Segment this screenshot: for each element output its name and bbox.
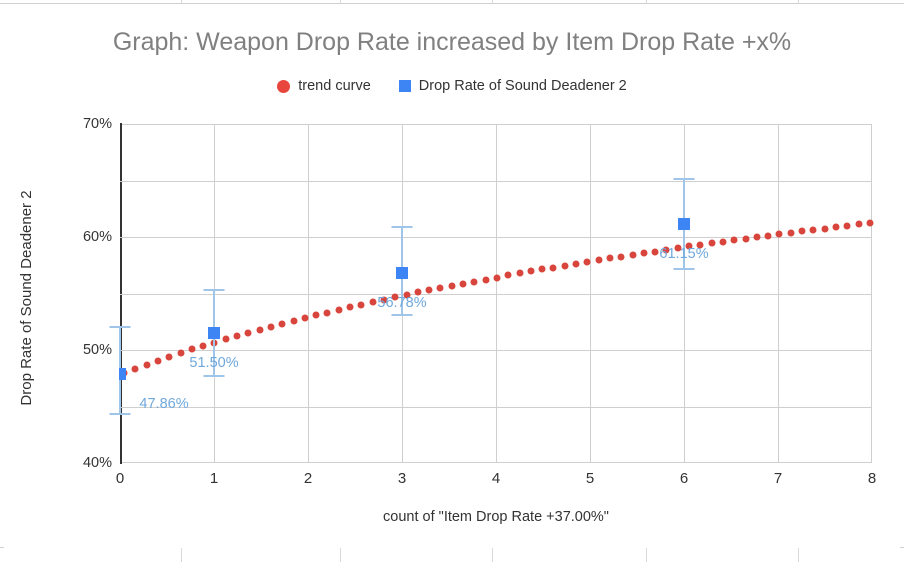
trend-curve-dot <box>844 222 851 229</box>
trend-curve-dot <box>821 225 828 232</box>
trend-curve-dot <box>516 270 523 277</box>
trend-curve-dot <box>448 282 455 289</box>
trend-curve-dot <box>143 361 150 368</box>
plot-area: 40%50%60%70% 012345678 47.86%51.50%56.78… <box>120 124 872 463</box>
x-tick-label: 5 <box>586 470 594 487</box>
error-bar-cap-lower <box>674 268 695 270</box>
trend-curve-dot <box>256 326 263 333</box>
chart-legend: trend curve Drop Rate of Sound Deadener … <box>4 78 900 94</box>
data-point-marker[interactable] <box>678 218 690 230</box>
trend-curve-dot <box>493 274 500 281</box>
trend-curve-dot <box>245 329 252 336</box>
legend-item-trend-curve[interactable]: trend curve <box>277 78 371 94</box>
x-tick-label: 8 <box>868 470 876 487</box>
trend-curve-dot <box>708 240 715 247</box>
trend-curve-dot <box>132 365 139 372</box>
x-axis-title: count of "Item Drop Rate +37.00%" <box>120 509 872 525</box>
trend-curve-dot <box>595 257 602 264</box>
trend-curve-dot <box>527 268 534 275</box>
trend-curve-dot <box>606 255 613 262</box>
error-bar-cap-lower <box>204 375 225 377</box>
error-bar-cap-lower <box>110 413 131 415</box>
trend-curve-dot <box>200 342 207 349</box>
y-axis-title-text: Drop Rate of Sound Deadener 2 <box>18 148 35 448</box>
trend-curve-dot <box>324 309 331 316</box>
square-marker-icon <box>399 80 411 92</box>
spreadsheet-chart-screenshot: Graph: Weapon Drop Rate increased by Ite… <box>0 0 904 562</box>
trend-curve-dot <box>234 332 241 339</box>
x-tick-label: 6 <box>680 470 688 487</box>
sheet-col-line <box>181 548 182 562</box>
data-point-marker[interactable] <box>208 327 220 339</box>
gridline-vertical <box>308 124 309 463</box>
data-point-label: 47.86% <box>139 396 188 412</box>
x-tick-label: 4 <box>492 470 500 487</box>
trend-curve-dot <box>866 220 873 227</box>
x-tick-label: 2 <box>304 470 312 487</box>
trend-curve-dot <box>301 315 308 322</box>
trend-curve-dot <box>561 262 568 269</box>
trend-curve-dot <box>177 350 184 357</box>
trend-curve-dot <box>753 234 760 241</box>
trend-curve-dot <box>765 232 772 239</box>
sheet-col-line <box>340 548 341 562</box>
x-tick-label: 3 <box>398 470 406 487</box>
trend-curve-dot <box>154 357 161 364</box>
trend-curve-dot <box>426 287 433 294</box>
error-bar-cap-upper <box>110 326 131 328</box>
sheet-col-line <box>646 548 647 562</box>
trend-curve-dot <box>482 276 489 283</box>
sheet-col-line <box>492 548 493 562</box>
data-point-label: 51.50% <box>189 355 238 371</box>
error-bar-cap-upper <box>674 178 695 180</box>
trend-curve-dot <box>787 229 794 236</box>
trend-curve-dot <box>539 266 546 273</box>
trend-curve-dot <box>629 251 636 258</box>
data-point-label: 61.15% <box>659 246 708 262</box>
x-tick-label: 1 <box>210 470 218 487</box>
trend-curve-dot <box>279 320 286 327</box>
y-tick-label: 40% <box>83 455 112 471</box>
chart-title: Graph: Weapon Drop Rate increased by Ite… <box>4 28 900 57</box>
trend-curve-dot <box>799 228 806 235</box>
trend-curve-dot <box>335 306 342 313</box>
trend-curve-dot <box>437 284 444 291</box>
trend-curve-dot <box>222 336 229 343</box>
trend-curve-dot <box>810 226 817 233</box>
trend-curve-dot <box>573 260 580 267</box>
trend-curve-dot <box>640 250 647 257</box>
gridline-vertical <box>496 124 497 463</box>
trend-curve-dot <box>188 346 195 353</box>
trend-curve-dot <box>776 231 783 238</box>
trend-curve-dot <box>731 237 738 244</box>
gridline-vertical <box>590 124 591 463</box>
gridline-vertical <box>684 124 685 463</box>
y-tick-label: 60% <box>83 229 112 245</box>
data-point-marker[interactable] <box>119 368 126 380</box>
gridline-vertical <box>778 124 779 463</box>
chart-object[interactable]: Graph: Weapon Drop Rate increased by Ite… <box>4 4 900 548</box>
trend-curve-dot <box>719 238 726 245</box>
y-tick-label: 70% <box>83 116 112 132</box>
error-bar-cap-upper <box>204 289 225 291</box>
legend-item-drop-rate[interactable]: Drop Rate of Sound Deadener 2 <box>399 78 627 94</box>
trend-curve-dot <box>652 248 659 255</box>
legend-label: trend curve <box>298 78 371 94</box>
x-tick-label: 7 <box>774 470 782 487</box>
data-point-marker[interactable] <box>396 267 408 279</box>
error-bar-cap-upper <box>392 226 413 228</box>
trend-curve-dot <box>166 353 173 360</box>
trend-curve-dot <box>742 235 749 242</box>
circle-marker-icon <box>277 80 290 93</box>
trend-curve-dot <box>369 299 376 306</box>
data-point-label: 56.78% <box>377 295 426 311</box>
trend-curve-dot <box>550 264 557 271</box>
trend-curve-dot <box>832 224 839 231</box>
trend-curve-dot <box>460 280 467 287</box>
trend-curve-dot <box>347 304 354 311</box>
y-axis-title: Drop Rate of Sound Deadener 2 <box>18 0 40 148</box>
trend-curve-dot <box>584 259 591 266</box>
trend-curve-dot <box>358 301 365 308</box>
x-tick-label: 0 <box>116 470 124 487</box>
y-tick-label: 50% <box>83 342 112 358</box>
error-bar-cap-lower <box>392 314 413 316</box>
trend-curve-dot <box>505 272 512 279</box>
trend-curve-dot <box>313 312 320 319</box>
sheet-col-line <box>798 548 799 562</box>
legend-label: Drop Rate of Sound Deadener 2 <box>419 78 627 94</box>
trend-curve-dot <box>855 221 862 228</box>
trend-curve-dot <box>290 317 297 324</box>
trend-curve-dot <box>618 253 625 260</box>
trend-curve-dot <box>267 323 274 330</box>
trend-curve-dot <box>471 278 478 285</box>
